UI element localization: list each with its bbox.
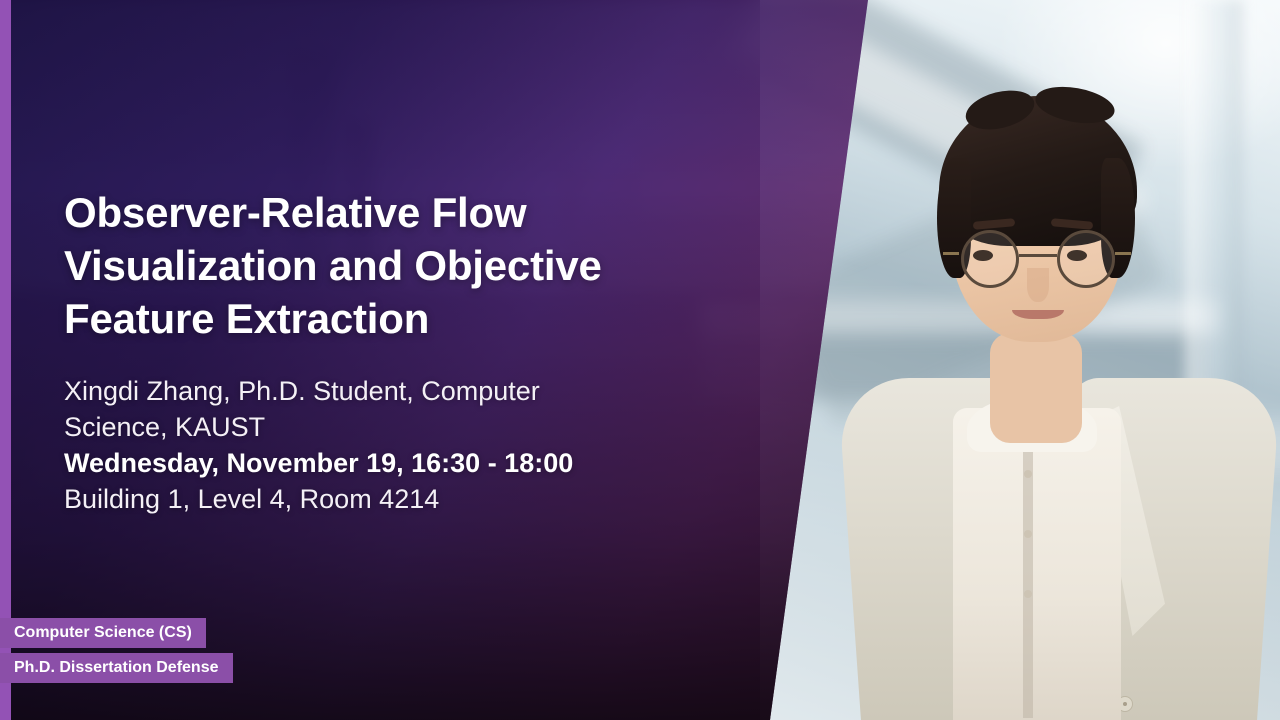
title-line-2: Visualization and Objective — [64, 242, 602, 289]
event-details: Xingdi Zhang, Ph.D. Student, Computer Sc… — [64, 373, 624, 517]
speaker-info: Xingdi Zhang, Ph.D. Student, Computer Sc… — [64, 373, 624, 445]
title-line-3: Feature Extraction — [64, 295, 429, 342]
eyeglasses — [953, 230, 1125, 288]
page-title: Observer-Relative FlowVisualization and … — [64, 0, 664, 345]
neck — [990, 333, 1082, 443]
poster-content: Observer-Relative FlowVisualization and … — [64, 0, 724, 517]
status-badge-department: Computer Science (CS) — [0, 618, 206, 648]
badge-group: Computer Science (CS) Ph.D. Dissertation… — [0, 618, 233, 683]
event-announcement-poster: Observer-Relative FlowVisualization and … — [0, 0, 1280, 720]
person-portrait — [845, 78, 1275, 720]
shirt — [953, 408, 1121, 720]
status-badge-event-type: Ph.D. Dissertation Defense — [0, 653, 233, 683]
left-accent-bar — [0, 0, 11, 720]
title-line-1: Observer-Relative Flow — [64, 189, 526, 236]
event-location: Building 1, Level 4, Room 4214 — [64, 481, 624, 517]
event-datetime: Wednesday, November 19, 16:30 - 18:00 — [64, 445, 624, 481]
